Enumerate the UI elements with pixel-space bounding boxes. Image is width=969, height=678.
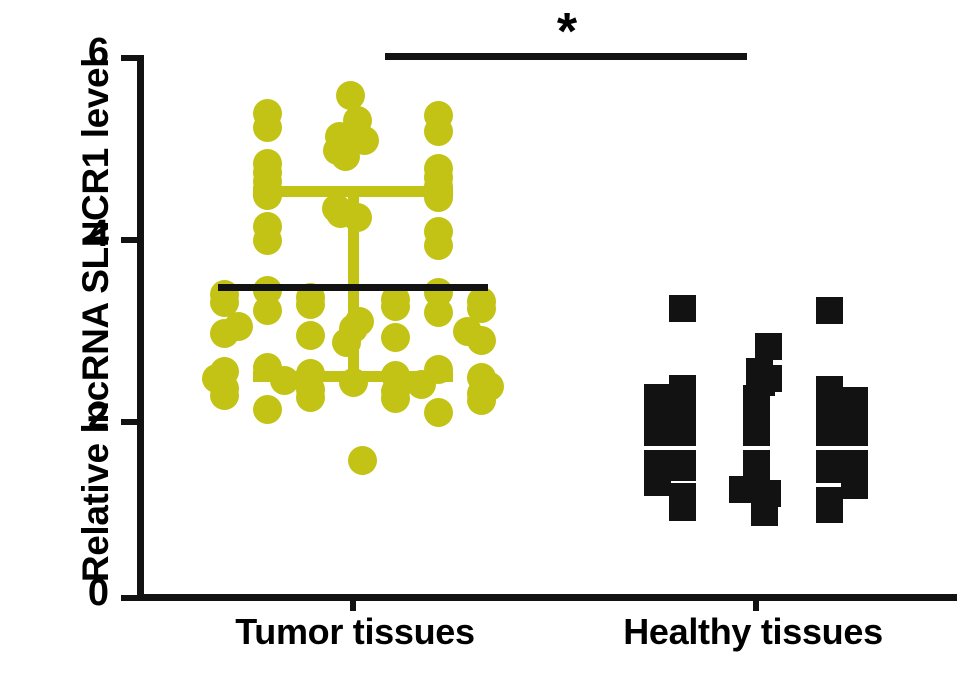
data-point-tumor	[253, 212, 282, 241]
data-point-healthy	[816, 297, 843, 324]
data-point-healthy	[669, 295, 696, 322]
data-point-healthy	[841, 442, 868, 469]
data-point-tumor	[424, 355, 453, 384]
data-point-tumor	[424, 172, 453, 201]
data-point-healthy	[751, 499, 778, 526]
data-point-healthy	[743, 411, 770, 438]
data-point-tumor	[296, 359, 325, 388]
data-point-tumor	[253, 276, 282, 305]
data-point-healthy	[816, 416, 843, 443]
data-point-tumor	[296, 283, 325, 312]
data-point-healthy	[743, 451, 770, 478]
x-axis-label-healthy: Healthy tissues	[583, 611, 923, 653]
data-point-tumor	[253, 296, 282, 325]
data-point-tumor	[224, 312, 253, 341]
data-point-tumor	[381, 285, 410, 314]
data-point-healthy	[748, 369, 775, 396]
data-point-healthy	[755, 365, 782, 392]
data-point-healthy	[841, 393, 868, 420]
data-point-tumor	[424, 183, 453, 212]
data-point-healthy	[841, 467, 868, 494]
data-point-healthy	[644, 429, 671, 456]
data-point-tumor	[331, 142, 360, 171]
data-point-healthy	[841, 447, 868, 474]
data-point-tumor	[253, 99, 282, 128]
significance-asterisk: *	[540, 6, 594, 58]
y-tick-label-6: 6	[63, 33, 109, 71]
data-point-healthy	[743, 440, 770, 467]
data-point-healthy	[743, 391, 770, 418]
x-axis-line	[137, 594, 957, 601]
data-point-tumor	[270, 366, 299, 395]
data-point-tumor	[348, 446, 377, 475]
data-point-healthy	[816, 396, 843, 423]
data-point-healthy	[743, 400, 770, 427]
scatter-plot-figure: Relative lncRNA SLNCR1 level 6 4 2 0 Tum…	[0, 0, 969, 678]
data-point-tumor	[467, 294, 496, 323]
data-point-healthy	[841, 452, 868, 479]
y-tick-label-2: 2	[63, 397, 109, 435]
data-point-tumor	[210, 381, 239, 410]
data-point-healthy	[644, 469, 671, 496]
x-axis-label-tumor: Tumor tissues	[185, 611, 525, 653]
data-point-tumor	[424, 231, 453, 260]
data-point-tumor	[467, 326, 496, 355]
data-point-tumor	[467, 386, 496, 415]
data-point-tumor	[323, 136, 352, 165]
data-point-healthy	[816, 487, 843, 514]
y-axis-line	[137, 55, 144, 601]
data-point-healthy	[816, 436, 843, 463]
data-point-healthy	[816, 381, 843, 408]
data-point-healthy	[816, 376, 843, 403]
y-tick-0	[121, 595, 139, 601]
data-point-healthy	[669, 394, 696, 421]
data-point-healthy	[841, 432, 868, 459]
data-point-healthy	[743, 465, 770, 492]
data-point-healthy	[669, 378, 696, 405]
data-point-healthy	[841, 402, 868, 429]
data-point-healthy	[841, 407, 868, 434]
data-point-tumor	[326, 199, 355, 228]
data-point-tumor	[381, 361, 410, 390]
data-point-tumor	[343, 203, 372, 232]
data-point-tumor	[332, 328, 361, 357]
data-point-tumor	[253, 167, 282, 196]
data-point-tumor	[475, 372, 504, 401]
y-tick-6	[121, 55, 139, 61]
data-point-tumor	[424, 298, 453, 327]
data-point-tumor	[296, 321, 325, 350]
x-tick-healthy	[753, 594, 759, 611]
data-point-tumor	[210, 319, 239, 348]
data-point-healthy	[644, 458, 671, 485]
data-point-healthy	[816, 456, 843, 483]
data-point-healthy	[743, 425, 770, 452]
data-point-tumor	[453, 317, 482, 346]
data-point-tumor	[210, 288, 239, 317]
data-point-healthy	[644, 384, 671, 411]
data-point-tumor	[336, 81, 365, 110]
data-point-healthy	[644, 463, 671, 490]
data-point-healthy	[669, 454, 696, 481]
plot-area	[0, 0, 969, 678]
data-point-tumor	[296, 383, 325, 412]
data-point-tumor	[202, 364, 231, 393]
data-point-healthy	[644, 443, 671, 470]
data-point-healthy	[743, 405, 770, 432]
data-point-healthy	[743, 420, 770, 447]
y-tick-2	[121, 419, 139, 425]
data-point-tumor	[424, 163, 453, 192]
data-point-tumor	[467, 379, 496, 408]
data-point-healthy	[841, 461, 868, 488]
error-bar-cap-lower-tumor	[253, 371, 453, 382]
y-tick-label-0: 0	[63, 574, 109, 612]
data-point-healthy	[841, 472, 868, 499]
data-point-tumor	[253, 181, 282, 210]
data-point-tumor	[339, 368, 368, 397]
data-point-tumor	[381, 323, 410, 352]
data-point-tumor	[339, 314, 368, 343]
data-point-tumor	[381, 292, 410, 321]
data-point-healthy	[751, 490, 778, 517]
data-point-tumor	[325, 122, 354, 151]
data-point-healthy	[755, 333, 782, 360]
data-point-tumor	[210, 280, 239, 309]
data-point-tumor	[407, 370, 436, 399]
data-point-tumor	[253, 149, 282, 178]
error-bar-cap-upper-tumor	[253, 186, 453, 197]
data-point-healthy	[644, 423, 671, 450]
data-point-tumor	[296, 290, 325, 319]
data-point-tumor	[381, 377, 410, 406]
data-point-healthy	[841, 427, 868, 454]
data-point-healthy	[746, 358, 773, 385]
data-point-healthy	[841, 413, 868, 440]
data-point-tumor	[253, 158, 282, 187]
data-point-healthy	[754, 480, 781, 507]
median-line-healthy	[636, 446, 876, 450]
data-point-tumor	[253, 395, 282, 424]
data-point-healthy	[644, 389, 671, 416]
data-point-healthy	[644, 438, 671, 465]
data-point-tumor	[253, 353, 282, 382]
data-point-healthy	[669, 483, 696, 510]
data-point-tumor	[322, 194, 351, 223]
data-point-healthy	[743, 431, 770, 458]
data-point-tumor	[345, 307, 374, 336]
data-point-healthy	[743, 460, 770, 487]
data-point-healthy	[669, 414, 696, 441]
data-point-tumor	[467, 363, 496, 392]
data-point-healthy	[644, 418, 671, 445]
data-point-healthy	[644, 449, 671, 476]
data-point-healthy	[841, 387, 868, 414]
data-point-healthy	[729, 476, 756, 503]
data-point-healthy	[743, 470, 770, 497]
data-point-tumor	[343, 106, 372, 135]
data-point-tumor	[424, 154, 453, 183]
y-tick-label-4: 4	[63, 215, 109, 253]
data-point-tumor	[253, 226, 282, 255]
data-point-healthy	[669, 434, 696, 461]
data-point-healthy	[644, 398, 671, 425]
data-point-tumor	[467, 287, 496, 316]
data-point-healthy	[669, 494, 696, 521]
data-point-healthy	[644, 404, 671, 431]
data-point-healthy	[644, 409, 671, 436]
data-point-healthy	[669, 375, 696, 402]
y-tick-4	[121, 237, 139, 243]
data-point-tumor	[424, 278, 453, 307]
data-point-healthy	[743, 385, 770, 412]
data-point-tumor	[424, 217, 453, 246]
data-point-tumor	[381, 384, 410, 413]
data-point-tumor	[424, 117, 453, 146]
data-point-tumor	[350, 126, 379, 155]
y-axis-title: Relative lncRNA SLNCR1 level	[64, 0, 128, 640]
data-point-tumor	[210, 357, 239, 386]
data-point-tumor	[424, 398, 453, 427]
data-point-healthy	[816, 496, 843, 523]
data-point-healthy	[841, 422, 868, 449]
data-point-tumor	[296, 375, 325, 404]
data-point-tumor	[424, 101, 453, 130]
median-line-tumor	[218, 284, 488, 291]
data-point-tumor	[253, 113, 282, 142]
data-point-healthy	[743, 445, 770, 472]
error-bar-stem-tumor	[348, 191, 359, 377]
data-point-tumor	[210, 374, 239, 403]
x-tick-tumor	[350, 594, 356, 611]
